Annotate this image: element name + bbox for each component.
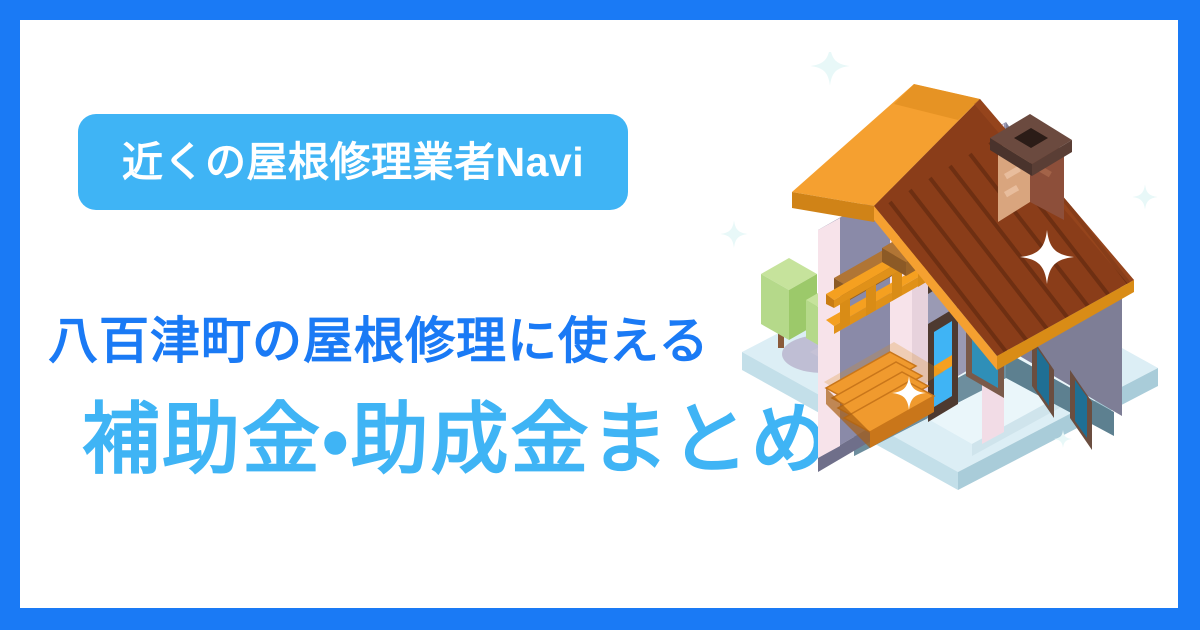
brand-badge-label: 近くの屋根修理業者Navi [122,142,584,183]
headline-subtitle: 八百津町の屋根修理に使える [20,316,780,366]
brand-badge: 近くの屋根修理業者Navi [78,114,628,210]
headline-title: 補助金・助成金まとめ [20,400,780,478]
card-inner-surface: 近くの屋根修理業者Navi 八百津町の屋根修理に使える 補助金・助成金まとめ [20,20,1178,608]
isometric-house-illustration [714,52,1178,522]
sparkle-right [1132,184,1158,210]
sparkle-top-left [810,52,850,86]
headline-block: 八百津町の屋根修理に使える 補助金・助成金まとめ [20,316,780,478]
ogp-card: 近くの屋根修理業者Navi 八百津町の屋根修理に使える 補助金・助成金まとめ [0,0,1200,630]
sparkle-mid-left [720,220,748,248]
